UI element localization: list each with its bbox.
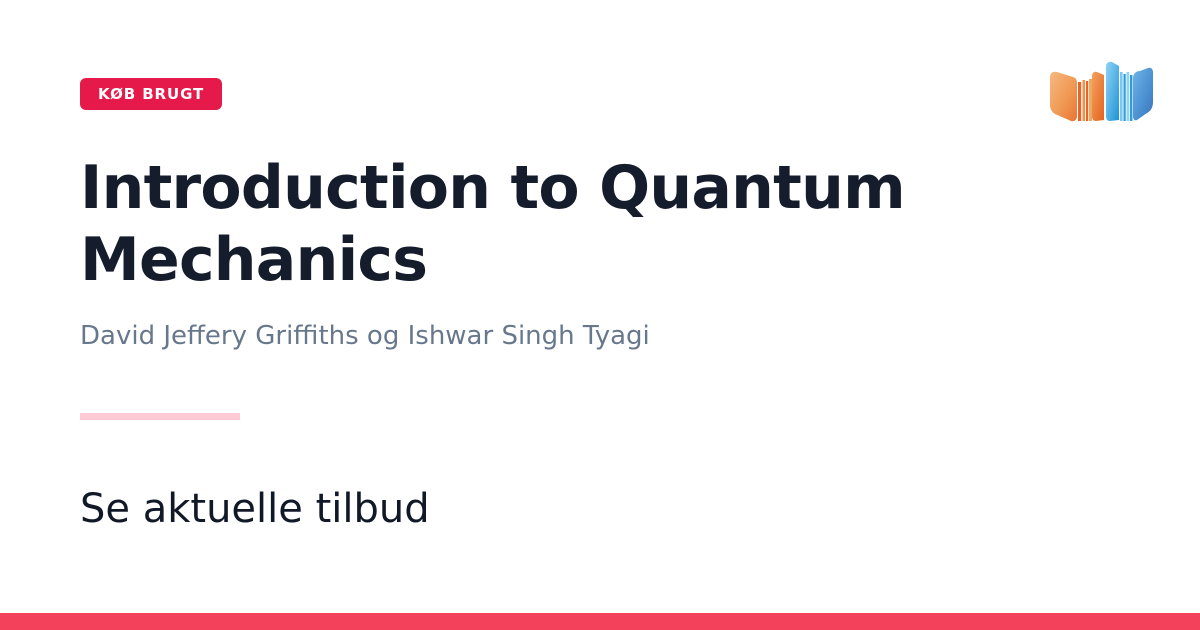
promo-card: KØB BRUGT bbox=[0, 0, 1200, 630]
logo-mark bbox=[1050, 62, 1153, 122]
badge-label: KØB BRUGT bbox=[98, 85, 204, 103]
cta-se-aktuelle-tilbud[interactable]: Se aktuelle tilbud bbox=[80, 485, 430, 533]
divider bbox=[80, 413, 240, 420]
page-title: Introduction to Quantum Mechanics bbox=[80, 152, 980, 296]
badge-kob-brugt[interactable]: KØB BRUGT bbox=[80, 78, 222, 110]
logo-reflection bbox=[1050, 125, 1153, 162]
brand-logo[interactable] bbox=[1040, 50, 1158, 162]
book-authors: David Jeffery Griffiths og Ishwar Singh … bbox=[80, 320, 1020, 354]
bottom-accent-bar bbox=[0, 613, 1200, 630]
